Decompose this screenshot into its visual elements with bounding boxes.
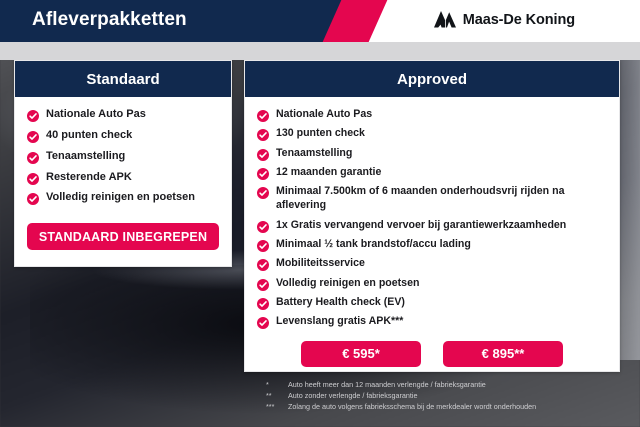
brand-name: Maas-De Koning [463,12,575,28]
card-title: Approved [397,71,467,88]
check-circle-icon [27,130,39,142]
footnote-marker: *** [266,401,288,412]
footnote-marker: ** [266,390,288,401]
list-item: Tenaamstelling [27,149,219,164]
feature-label: Battery Health check (EV) [276,295,405,309]
list-item: Resterende APK [27,170,219,185]
header-underband [0,42,640,60]
footnote-text: Auto zonder verlengde / fabrieksgarantie [288,390,417,401]
list-item: Minimaal ½ tank brandstof/accu lading [257,237,607,251]
list-item: 40 punten check [27,128,219,143]
check-circle-icon [257,167,269,179]
feature-label: Volledig reinigen en poetsen [46,190,195,205]
feature-label: Nationale Auto Pas [46,107,146,122]
list-item: Tenaamstelling [257,146,607,160]
list-item: Battery Health check (EV) [257,295,607,309]
feature-label: Volledig reinigen en poetsen [276,276,419,290]
list-item: Volledig reinigen en poetsen [27,190,219,205]
list-item: Minimaal 7.500km of 6 maanden onderhouds… [257,184,607,213]
check-circle-icon [257,148,269,160]
footnote-marker: * [266,379,288,390]
feature-label: 12 maanden garantie [276,165,381,179]
feature-label: Minimaal ½ tank brandstof/accu lading [276,237,471,251]
footnote-single-asterisk: * Auto heeft meer dan 12 maanden verleng… [266,379,536,390]
feature-label: Tenaamstelling [46,149,125,164]
package-card-approved: Approved Nationale Auto Pas 130 punten c… [244,60,620,372]
standaard-inbegrepen-button[interactable]: STANDAARD INBEGREPEN [27,223,219,250]
list-item: Nationale Auto Pas [257,107,607,121]
feature-label: 1x Gratis vervangend vervoer bij garanti… [276,218,566,232]
check-circle-icon [27,151,39,163]
check-circle-icon [257,278,269,290]
feature-label: Mobiliteitsservice [276,256,365,270]
page-header: Afleverpakketten Maas-De Koning [0,0,640,42]
check-circle-icon [27,109,39,121]
list-item: 130 punten check [257,126,607,140]
list-item: Nationale Auto Pas [27,107,219,122]
page-title: Afleverpakketten [32,9,187,31]
card-header-standaard: Standaard [15,61,231,97]
card-body-standaard: Nationale Auto Pas 40 punten check Tenaa… [15,97,231,258]
list-item: Mobiliteitsservice [257,256,607,270]
check-circle-icon [257,186,269,198]
brand-lockup: Maas-De Koning [434,11,575,28]
feature-list-approved: Nationale Auto Pas 130 punten check Tena… [257,107,607,329]
list-item: 12 maanden garantie [257,165,607,179]
feature-label: Resterende APK [46,170,132,185]
price-button-895[interactable]: € 895** [443,341,563,367]
check-circle-icon [257,128,269,140]
list-item: Levenslang gratis APK*** [257,314,607,328]
check-circle-icon [257,316,269,328]
feature-label: Nationale Auto Pas [276,107,372,121]
card-body-approved: Nationale Auto Pas 130 punten check Tena… [245,97,619,375]
check-circle-icon [257,109,269,121]
check-circle-icon [27,172,39,184]
check-circle-icon [27,192,39,204]
feature-label: Minimaal 7.500km of 6 maanden onderhouds… [276,184,607,213]
feature-list-standaard: Nationale Auto Pas 40 punten check Tenaa… [27,107,219,205]
footnote-triple-asterisk: *** Zolang de auto volgens fabrieksschem… [266,401,536,412]
footnote-text: Zolang de auto volgens fabrieksschema bi… [288,401,536,412]
footnote-double-asterisk: ** Auto zonder verlengde / fabrieksgaran… [266,390,536,401]
price-button-595[interactable]: € 595* [301,341,421,367]
card-title: Standaard [86,71,159,88]
footnote-text: Auto heeft meer dan 12 maanden verlengde… [288,379,486,390]
delivery-packages-screen: Afleverpakketten Maas-De Koning Standaar… [0,0,640,427]
footnotes: * Auto heeft meer dan 12 maanden verleng… [266,379,536,412]
check-circle-icon [257,220,269,232]
check-circle-icon [257,297,269,309]
feature-label: Levenslang gratis APK*** [276,314,403,328]
maas-de-koning-m-logo-icon [434,11,456,28]
feature-label: Tenaamstelling [276,146,352,160]
list-item: 1x Gratis vervangend vervoer bij garanti… [257,218,607,232]
feature-label: 40 punten check [46,128,132,143]
feature-label: 130 punten check [276,126,365,140]
check-circle-icon [257,239,269,251]
package-card-standaard: Standaard Nationale Auto Pas 40 punten c… [14,60,232,267]
price-button-row: € 595* € 895** [257,341,607,367]
check-circle-icon [257,258,269,270]
list-item: Volledig reinigen en poetsen [257,276,607,290]
card-header-approved: Approved [245,61,619,97]
